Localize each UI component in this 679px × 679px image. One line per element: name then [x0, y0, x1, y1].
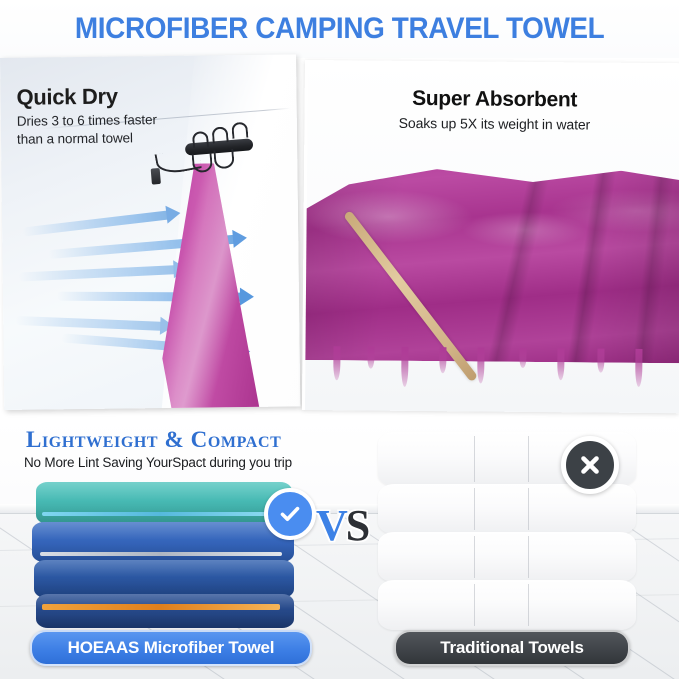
- towel-trim-orange: [42, 604, 280, 610]
- quick-dry-subtitle-line2: than a normal towel: [17, 128, 217, 148]
- wet-towel-folds: [302, 160, 679, 363]
- super-absorbent-text-block: Super Absorbent Soaks up 5X its weight i…: [307, 86, 679, 133]
- comparison-text-block: Lightweight & Compact No More Lint Savin…: [24, 428, 354, 470]
- towel-royal-blue: [32, 522, 294, 562]
- towel-trim-teal: [42, 512, 278, 516]
- header-banner: MICROFIBER CAMPING TRAVEL TOWEL: [0, 0, 679, 58]
- towel-navy: [36, 594, 294, 628]
- pill-blue-text: HOEAAS Microfiber Towel: [68, 638, 275, 658]
- white-towel-3: [378, 532, 636, 582]
- versus-s: S: [346, 501, 368, 550]
- super-absorbent-title: Super Absorbent: [308, 86, 679, 113]
- super-absorbent-subtitle: Soaks up 5X its weight in water: [307, 114, 679, 133]
- check-circle-icon: [264, 488, 316, 540]
- comparison-subheading: No More Lint Saving YourSpact during you…: [24, 455, 354, 470]
- towel-medium-blue: [34, 560, 294, 598]
- versus-v: V: [316, 501, 346, 550]
- panel-quick-dry: Quick Dry Dries 3 to 6 times faster than…: [0, 54, 300, 410]
- pill-dark-text: Traditional Towels: [440, 638, 583, 658]
- microfiber-towel-stack: [28, 482, 296, 637]
- panel-super-absorbent: Super Absorbent Soaks up 5X its weight i…: [302, 60, 679, 413]
- water-drips-icon: [305, 346, 679, 409]
- comparison-heading: Lightweight & Compact: [26, 428, 354, 452]
- label-hoeaas-microfiber-towel[interactable]: HOEAAS Microfiber Towel: [30, 630, 312, 666]
- towel-teal: [36, 482, 292, 524]
- towel-trim-silver: [40, 552, 282, 556]
- quick-dry-title: Quick Dry: [16, 83, 216, 110]
- page-title: MICROFIBER CAMPING TRAVEL TOWEL: [75, 12, 604, 46]
- versus-label: VS: [316, 500, 368, 551]
- quick-dry-text-block: Quick Dry Dries 3 to 6 times faster than…: [16, 83, 217, 148]
- top-feature-panels: Quick Dry Dries 3 to 6 times faster than…: [0, 58, 679, 420]
- product-infographic: MICROFIBER CAMPING TRAVEL TOWEL: [0, 0, 679, 679]
- label-traditional-towels[interactable]: Traditional Towels: [394, 630, 630, 666]
- x-circle-icon: [561, 436, 619, 494]
- white-towel-4: [378, 580, 636, 630]
